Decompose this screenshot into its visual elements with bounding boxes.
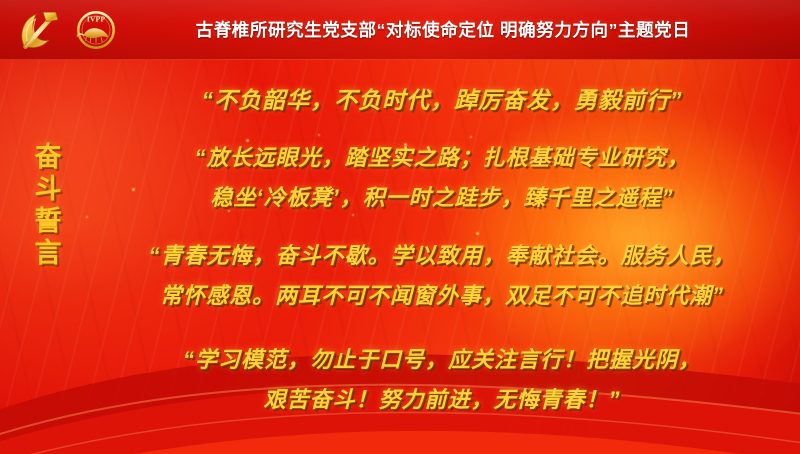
side-label-char-2: 斗 <box>35 175 62 204</box>
sparkle <box>86 216 88 218</box>
side-label-char-3: 誓 <box>35 207 62 236</box>
oath-line: “放长远眼光，踏坚实之路；扎根基础专业研究， <box>100 138 784 178</box>
side-label-oath: 奋 斗 誓 言 <box>26 143 70 268</box>
logo-group: IVPP <box>0 4 122 56</box>
side-label-char-1: 奋 <box>35 143 62 172</box>
oath-stanza-4: “学习模范，勿止于口号，应关注言行！把握光阴， 艰苦奋斗！努力前进，无悔青春！” <box>100 340 784 420</box>
header-bar: IVPP 古脊椎所研究生党支部“对标使命定位 明确努力方向”主题党日 <box>0 0 800 60</box>
side-label-char-4: 言 <box>35 239 62 268</box>
oath-line: 稳坐‘冷板凳’，积一时之跬步，臻千里之遥程” <box>100 178 784 218</box>
oath-line: 常怀感恩。两耳不可不闻窗外事，双足不可不追时代潮” <box>100 276 784 316</box>
page-title: 古脊椎所研究生党支部“对标使命定位 明确努力方向”主题党日 <box>122 17 800 42</box>
oath-line: “学习模范，勿止于口号，应关注言行！把握光阴， <box>100 340 784 380</box>
oath-stanza-3: “青春无悔，奋斗不歇。学以致用，奉献社会。服务人民， 常怀感恩。两耳不可不闻窗外… <box>100 236 784 316</box>
oath-line: “青春无悔，奋斗不歇。学以致用，奉献社会。服务人民， <box>100 236 784 276</box>
oath-line: 艰苦奋斗！努力前进，无悔青春！” <box>100 380 784 420</box>
oath-line: “不负韶华，不负时代，踔厉奋发，勇毅前行” <box>100 80 784 120</box>
oath-stanza-2: “放长远眼光，踏坚实之路；扎根基础专业研究， 稳坐‘冷板凳’，积一时之跬步，臻千… <box>100 138 784 218</box>
ivpp-logo-icon: IVPP <box>70 4 122 56</box>
oath-text-block: “不负韶华，不负时代，踔厉奋发，勇毅前行” “放长远眼光，踏坚实之路；扎根基础专… <box>100 66 784 422</box>
cpc-emblem-icon <box>12 4 64 56</box>
poster-root: IVPP 古脊椎所研究生党支部“对标使命定位 明确努力方向”主题党日 奋 斗 誓… <box>0 0 800 454</box>
ivpp-logo-text: IVPP <box>87 14 105 23</box>
oath-stanza-1: “不负韶华，不负时代，踔厉奋发，勇毅前行” <box>100 80 784 120</box>
